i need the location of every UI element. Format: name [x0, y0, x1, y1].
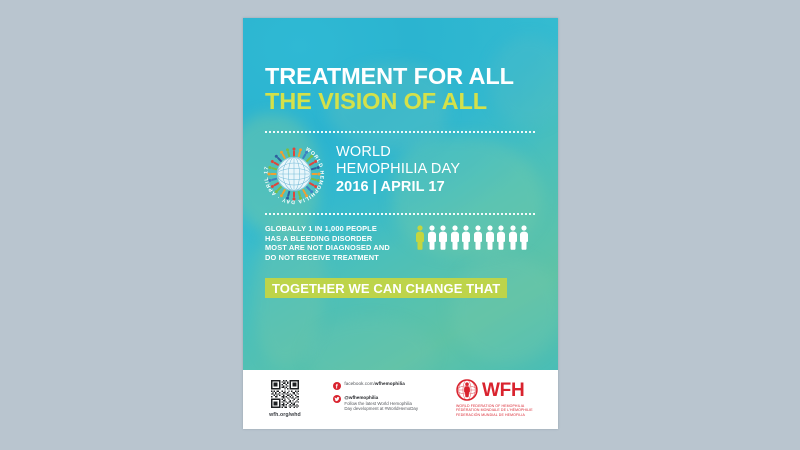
twitter-sub-line-2: Day development at #WorldHemoDay — [344, 406, 418, 412]
wfh-subtitles: WORLD FEDERATION OF HEMOPHILIA FÉDÉRATIO… — [456, 404, 548, 418]
dotted-divider-top — [265, 131, 537, 133]
world-hemophilia-day-globe-icon: WORLD HEMOPHILIA DAY · APRIL 17 — [262, 142, 326, 206]
statistic-line: MOST ARE NOT DIAGNOSED AND — [265, 243, 415, 253]
wfh-wordmark: WFH — [482, 381, 524, 400]
statistic-text: GLOBALLY 1 IN 1,000 PEOPLE HAS A BLEEDIN… — [265, 224, 415, 262]
wfh-emblem-icon — [456, 379, 478, 401]
person-icon — [438, 225, 448, 250]
wfh-logo: WFH WORLD FEDERATION OF HEMOPHILIA FÉDÉR… — [456, 379, 548, 417]
person-icon — [519, 225, 529, 250]
statistic-line: GLOBALLY 1 IN 1,000 PEOPLE — [265, 224, 415, 234]
person-icon — [450, 225, 460, 250]
person-icon — [485, 225, 495, 250]
headline-line-2: THE VISION OF ALL — [265, 89, 537, 114]
facebook-icon[interactable] — [333, 382, 341, 390]
facebook-text: facebook.com/wfhemophilia — [344, 381, 404, 387]
facebook-prefix: facebook.com/ — [344, 381, 375, 386]
people-pictogram — [415, 225, 529, 250]
headline-line-1: TREATMENT FOR ALL — [265, 64, 537, 89]
event-title-line-1: WORLD — [336, 144, 460, 161]
person-icon — [461, 225, 471, 250]
person-icon — [508, 225, 518, 250]
event-date: 2016 | APRIL 17 — [336, 178, 460, 196]
wfh-subtitle-es: FEDERACIÓN MUNDIAL DE HEMOFILIA — [456, 413, 548, 418]
qr-url-label: wfh.org/whd — [265, 412, 305, 418]
poster: TREATMENT FOR ALL THE VISION OF ALL WORL… — [243, 18, 558, 429]
person-icon — [496, 225, 506, 250]
person-icon — [473, 225, 483, 250]
event-title: WORLD HEMOPHILIA DAY 2016 | APRIL 17 — [336, 144, 460, 196]
qr-code-icon[interactable] — [271, 380, 299, 408]
headline: TREATMENT FOR ALL THE VISION OF ALL — [265, 64, 537, 114]
dotted-divider-middle — [265, 213, 537, 215]
poster-footer: wfh.org/whd facebook.com/wfhemophilia @w… — [243, 370, 558, 429]
twitter-icon[interactable] — [333, 395, 341, 403]
poster-main-panel: TREATMENT FOR ALL THE VISION OF ALL WORL… — [243, 18, 558, 370]
wfh-logo-top: WFH — [456, 379, 548, 401]
event-lockup: WORLD HEMOPHILIA DAY · APRIL 17 — [262, 142, 538, 206]
qr-block: wfh.org/whd — [265, 380, 305, 418]
call-to-action-banner: TOGETHER WE CAN CHANGE THAT — [265, 278, 507, 298]
facebook-handle: wfhemophilia — [375, 381, 405, 386]
call-to-action-text: TOGETHER WE CAN CHANGE THAT — [272, 281, 500, 296]
statistic-line: DO NOT RECEIVE TREATMENT — [265, 253, 415, 263]
person-icon — [415, 225, 425, 250]
social-row-twitter[interactable]: @wfhemophilia Follow the latest World He… — [333, 395, 448, 412]
event-title-line-2: HEMOPHILIA DAY — [336, 161, 460, 178]
statistic-line: HAS A BLEEDING DISORDER — [265, 234, 415, 244]
twitter-text: @wfhemophilia Follow the latest World He… — [344, 395, 418, 412]
person-icon — [427, 225, 437, 250]
social-links: facebook.com/wfhemophilia @wfhemophilia … — [333, 381, 448, 417]
social-row-facebook[interactable]: facebook.com/wfhemophilia — [333, 381, 448, 390]
